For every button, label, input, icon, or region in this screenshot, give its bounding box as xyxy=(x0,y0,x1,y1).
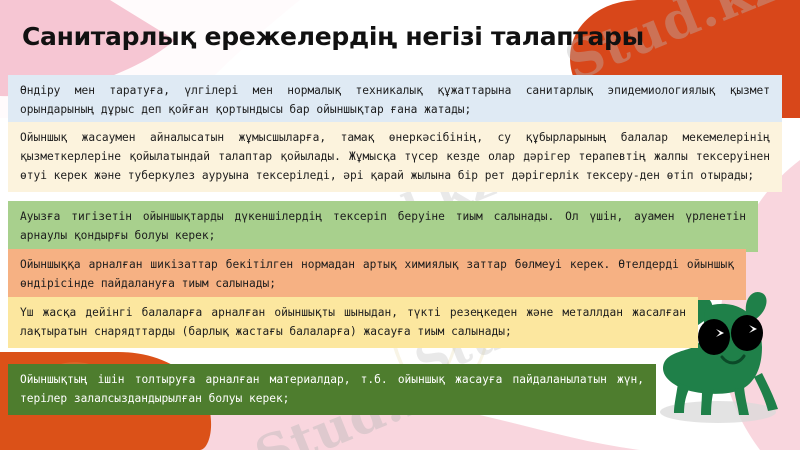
mascot-leg-4 xyxy=(754,373,778,411)
mascot-leg-2 xyxy=(701,389,714,415)
content-block-3: Ауызға тигізетін ойыншықтарды дүкеншілер… xyxy=(8,201,758,252)
mascot-leg-3 xyxy=(734,387,749,415)
mascot-eye-left xyxy=(698,319,730,355)
content-block-2: Ойыншық жасаумен айналысатын жұмысшыларғ… xyxy=(8,122,782,192)
content-block-1: Өндіру мен таратуға, үлгілері мен нормал… xyxy=(8,75,782,126)
content-block-6: Ойыншықтың ішін толтыруға арналған матер… xyxy=(8,364,656,415)
mascot-eye-right xyxy=(731,315,763,351)
page-title: Санитарлық ережелердің негізі талаптары xyxy=(22,22,644,51)
content-block-5: Үш жасқа дейінгі балаларға арналған ойын… xyxy=(8,297,698,348)
mascot-leg-1 xyxy=(674,383,690,413)
content-block-4: Ойыншыққа арналған шикізаттар бекітілген… xyxy=(8,249,746,300)
slide-canvas: Stud.kz Stud.kz Stud.kz Stud.kz Stud.kz … xyxy=(0,0,800,450)
